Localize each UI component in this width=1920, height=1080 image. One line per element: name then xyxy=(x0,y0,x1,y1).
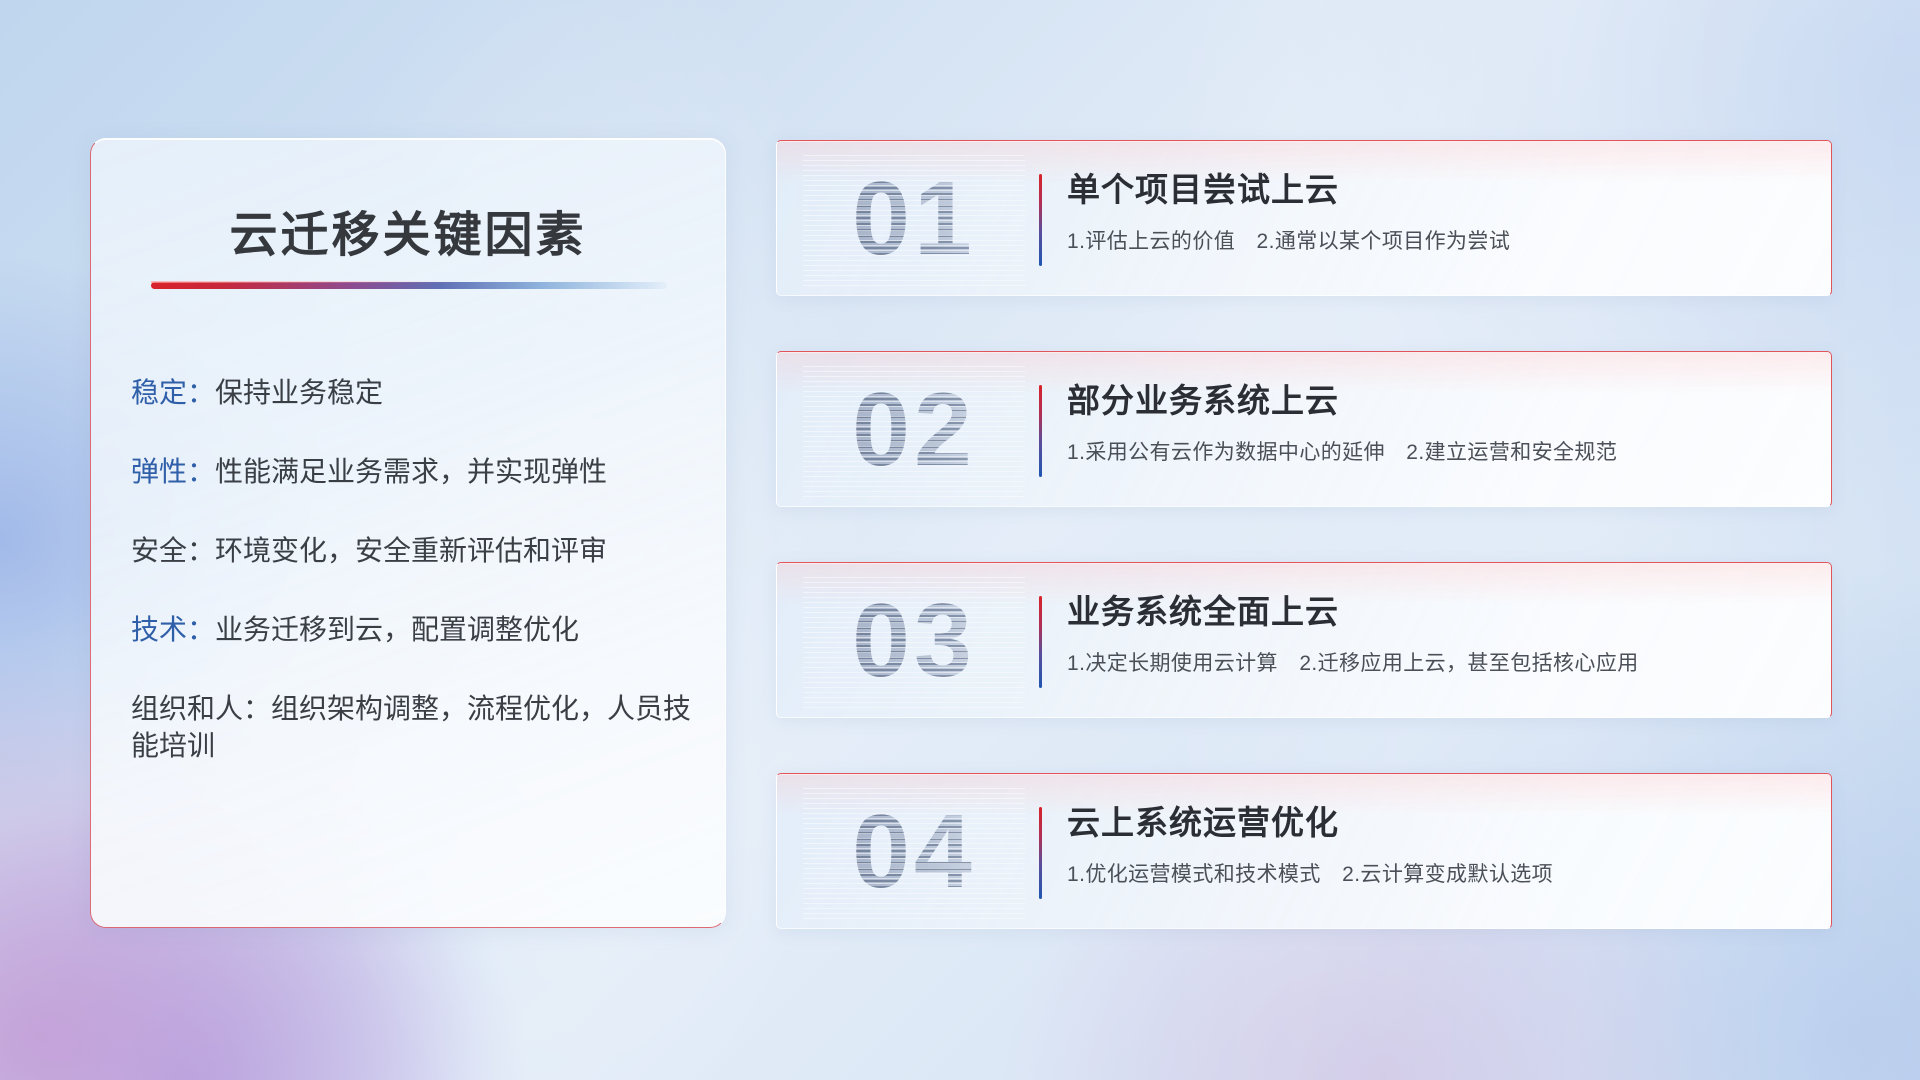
card-body: 业务系统全面上云 1.决定长期使用云计算 2.迁移应用上云，甚至包括核心应用 xyxy=(1067,591,1807,678)
page-title: 云迁移关键因素 xyxy=(91,195,725,265)
stage-card[interactable]: 04 云上系统运营优化 1.优化运营模式和技术模式 2.云计算变成默认选项 xyxy=(776,773,1832,929)
list-item: 技术：业务迁移到云，配置调整优化 xyxy=(131,612,697,649)
stage-title: 业务系统全面上云 xyxy=(1067,591,1807,632)
stage-card[interactable]: 03 业务系统全面上云 1.决定长期使用云计算 2.迁移应用上云，甚至包括核心应… xyxy=(776,562,1832,718)
stage-number: 04 xyxy=(809,784,1019,920)
factor-label: 安全： xyxy=(131,535,215,566)
stage-title: 单个项目尝试上云 xyxy=(1067,169,1807,210)
list-item: 组织和人：组织架构调整，流程优化，人员技能培训 xyxy=(131,691,697,765)
factor-label: 稳定： xyxy=(131,377,215,408)
factor-label: 组织和人： xyxy=(131,693,271,724)
factor-text: 环境变化，安全重新评估和评审 xyxy=(215,535,607,566)
list-item: 弹性：性能满足业务需求，并实现弹性 xyxy=(131,454,697,491)
stage-subtitle: 1.优化运营模式和技术模式 2.云计算变成默认选项 xyxy=(1067,861,1807,888)
card-body: 部分业务系统上云 1.采用公有云作为数据中心的延伸 2.建立运营和安全规范 xyxy=(1067,380,1807,467)
stage-card[interactable]: 02 部分业务系统上云 1.采用公有云作为数据中心的延伸 2.建立运营和安全规范 xyxy=(776,351,1832,507)
accent-bar xyxy=(1039,807,1042,899)
factor-label: 弹性： xyxy=(131,456,215,487)
factor-text: 业务迁移到云，配置调整优化 xyxy=(215,614,579,645)
key-factors-panel: 云迁移关键因素 稳定：保持业务稳定 弹性：性能满足业务需求，并实现弹性 安全：环… xyxy=(90,138,726,928)
stage-number: 03 xyxy=(809,573,1019,709)
stage-subtitle: 1.决定长期使用云计算 2.迁移应用上云，甚至包括核心应用 xyxy=(1067,650,1807,677)
card-body: 单个项目尝试上云 1.评估上云的价值 2.通常以某个项目作为尝试 xyxy=(1067,169,1807,256)
stage-subtitle: 1.采用公有云作为数据中心的延伸 2.建立运营和安全规范 xyxy=(1067,439,1807,466)
stage-title: 云上系统运营优化 xyxy=(1067,802,1807,843)
stage-card-list: 01 单个项目尝试上云 1.评估上云的价值 2.通常以某个项目作为尝试 02 部… xyxy=(776,140,1832,929)
stage-number: 01 xyxy=(809,151,1019,287)
factor-text: 性能满足业务需求，并实现弹性 xyxy=(215,456,607,487)
stage-number: 02 xyxy=(809,362,1019,498)
card-body: 云上系统运营优化 1.优化运营模式和技术模式 2.云计算变成默认选项 xyxy=(1067,802,1807,889)
factor-text: 保持业务稳定 xyxy=(215,377,383,408)
accent-bar xyxy=(1039,596,1042,688)
list-item: 稳定：保持业务稳定 xyxy=(131,375,697,412)
stage-card[interactable]: 01 单个项目尝试上云 1.评估上云的价值 2.通常以某个项目作为尝试 xyxy=(776,140,1832,296)
stage-subtitle: 1.评估上云的价值 2.通常以某个项目作为尝试 xyxy=(1067,228,1807,255)
accent-bar xyxy=(1039,385,1042,477)
accent-bar xyxy=(1039,174,1042,266)
factor-label: 技术： xyxy=(131,614,215,645)
key-factors-list: 稳定：保持业务稳定 弹性：性能满足业务需求，并实现弹性 安全：环境变化，安全重新… xyxy=(131,375,697,765)
stage-title: 部分业务系统上云 xyxy=(1067,380,1807,421)
list-item: 安全：环境变化，安全重新评估和评审 xyxy=(131,533,697,570)
title-underline-gradient xyxy=(151,282,667,289)
